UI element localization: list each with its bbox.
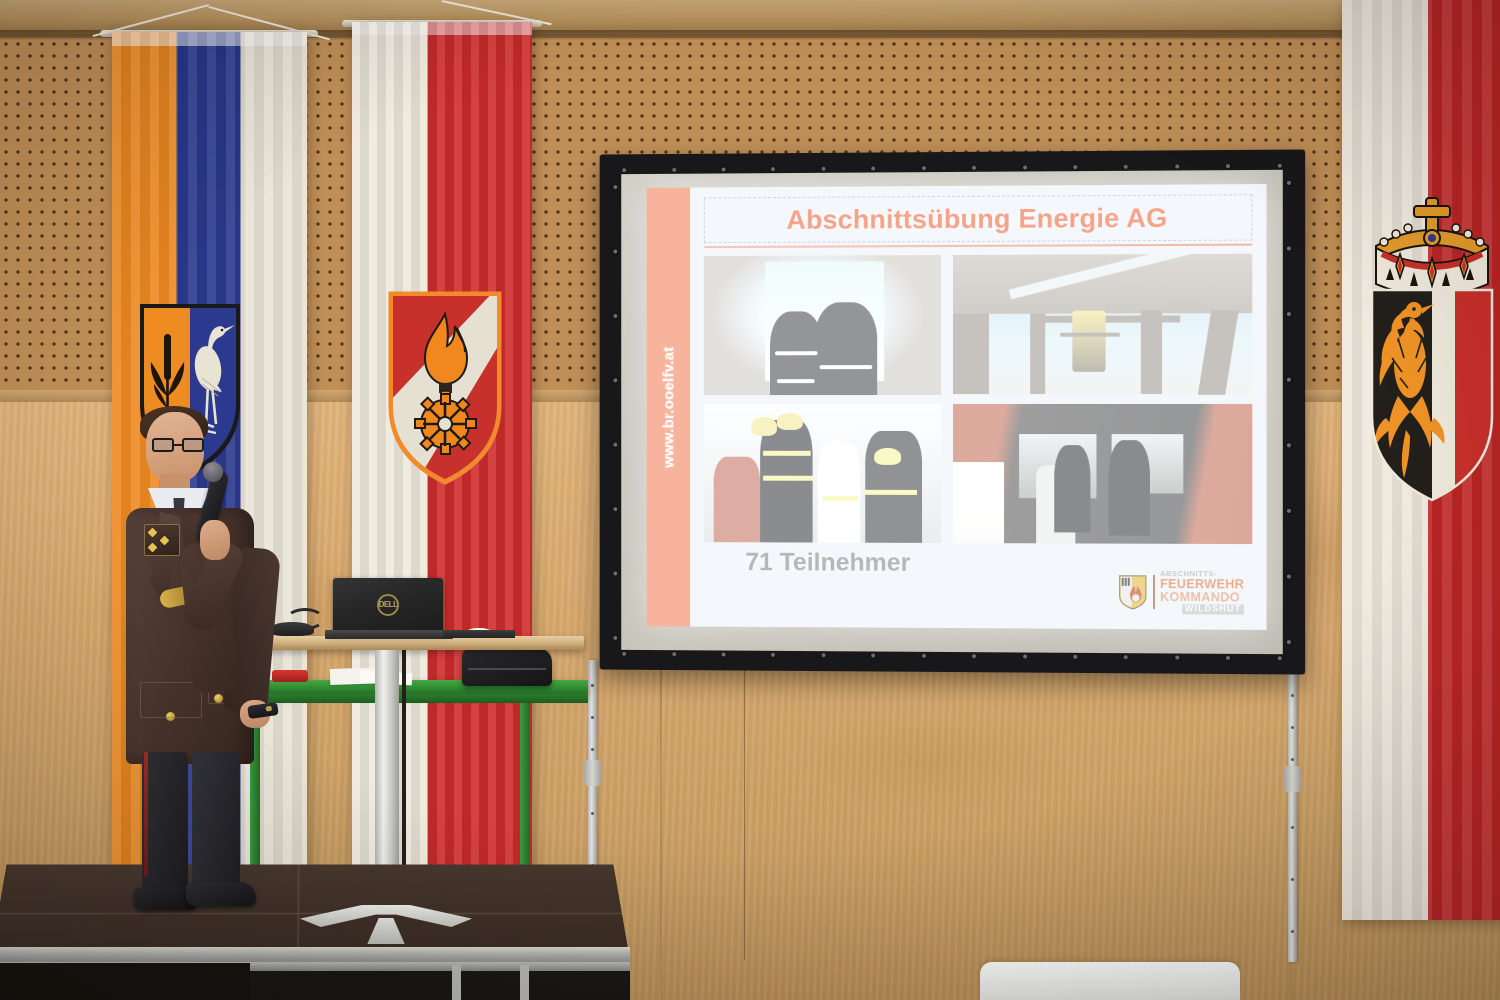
stage-edge-trim: [0, 947, 630, 963]
shoe-right: [186, 882, 256, 906]
screen-leg-clamp-left[interactable]: [584, 760, 601, 786]
presenter: [104, 412, 294, 920]
feuerwehr-kommando-logo: ABSCHNITTS- FEUERWEHR KOMMANDO WILDSHUT: [1118, 570, 1245, 615]
screen-surface: www.br.ooelfv.at Abschnittsübung Energie…: [621, 170, 1283, 654]
projection-screen: www.br.ooelfv.at Abschnittsübung Energie…: [596, 152, 1302, 672]
logo-line-3: KOMMANDO: [1160, 591, 1244, 604]
slide-photo-grid: [704, 254, 1252, 544]
slide-title-rule: [704, 244, 1252, 248]
slide-photo-top-left: [704, 255, 941, 395]
slide-title-placeholder: Abschnittsübung Energie AG: [704, 194, 1252, 243]
participants-count: 71 Teilnehmer: [745, 548, 910, 578]
screen-frame: www.br.ooelfv.at Abschnittsübung Energie…: [600, 149, 1306, 674]
logo-wordmark: ABSCHNITTS- FEUERWEHR KOMMANDO WILDSHUT: [1160, 570, 1244, 614]
slide-title: Abschnittsübung Energie AG: [786, 202, 1167, 235]
laptop-screen-lid: DELL: [333, 578, 443, 634]
screen-leg-clamp-right[interactable]: [1284, 766, 1301, 792]
laptop-base[interactable]: [325, 630, 453, 639]
presentation-scene: www.br.ooelfv.at Abschnittsübung Energie…: [0, 0, 1500, 1000]
logo-divider: [1153, 575, 1155, 609]
slide-photo-bottom-left: [704, 404, 941, 543]
floor-shadow: [0, 963, 250, 1000]
rank-insignia-patch: [144, 524, 180, 556]
logo-line-4: WILDSHUT: [1182, 605, 1244, 615]
logo-crest-icon: [1118, 574, 1148, 610]
trouser-leg-right: [192, 752, 240, 900]
stage-platform: [0, 865, 630, 960]
legs: [140, 752, 244, 900]
jacket-pocket-left: [140, 682, 202, 718]
slide-sidebar: www.br.ooelfv.at: [647, 188, 690, 627]
fire-service-coat-of-arms: [385, 288, 505, 488]
remote-button[interactable]: [265, 706, 272, 712]
slide-footer: 71 Teilnehmer: [704, 550, 1252, 621]
slide-body: Abschnittsübung Energie AG: [690, 184, 1266, 630]
screen-support-wire: [744, 660, 745, 960]
upper-austria-coat-of-arms: [1352, 168, 1500, 518]
stage-leg: [520, 965, 529, 1000]
presentation-remote[interactable]: [247, 702, 279, 719]
slide-photo-top-right: [953, 254, 1252, 395]
projected-slide: www.br.ooelfv.at Abschnittsübung Energie…: [647, 184, 1267, 630]
glasses-icon: [152, 438, 206, 452]
slide-url-text: www.br.ooelfv.at: [660, 346, 677, 467]
screen-leg-right[interactable]: [1288, 666, 1297, 962]
foreground-white-object: [980, 962, 1240, 1000]
bag-zipper: [468, 668, 546, 670]
laptop-dock: [443, 630, 515, 638]
stage-leg: [452, 965, 461, 1000]
wall-upper-beam: [0, 0, 1500, 34]
hand-right: [200, 520, 230, 560]
green-table-leg: [520, 694, 530, 869]
laptop-bag: [462, 648, 552, 686]
slide-photo-bottom-right: [953, 403, 1252, 544]
dell-logo: DELL: [377, 594, 399, 616]
trouser-leg-left: [142, 752, 188, 900]
